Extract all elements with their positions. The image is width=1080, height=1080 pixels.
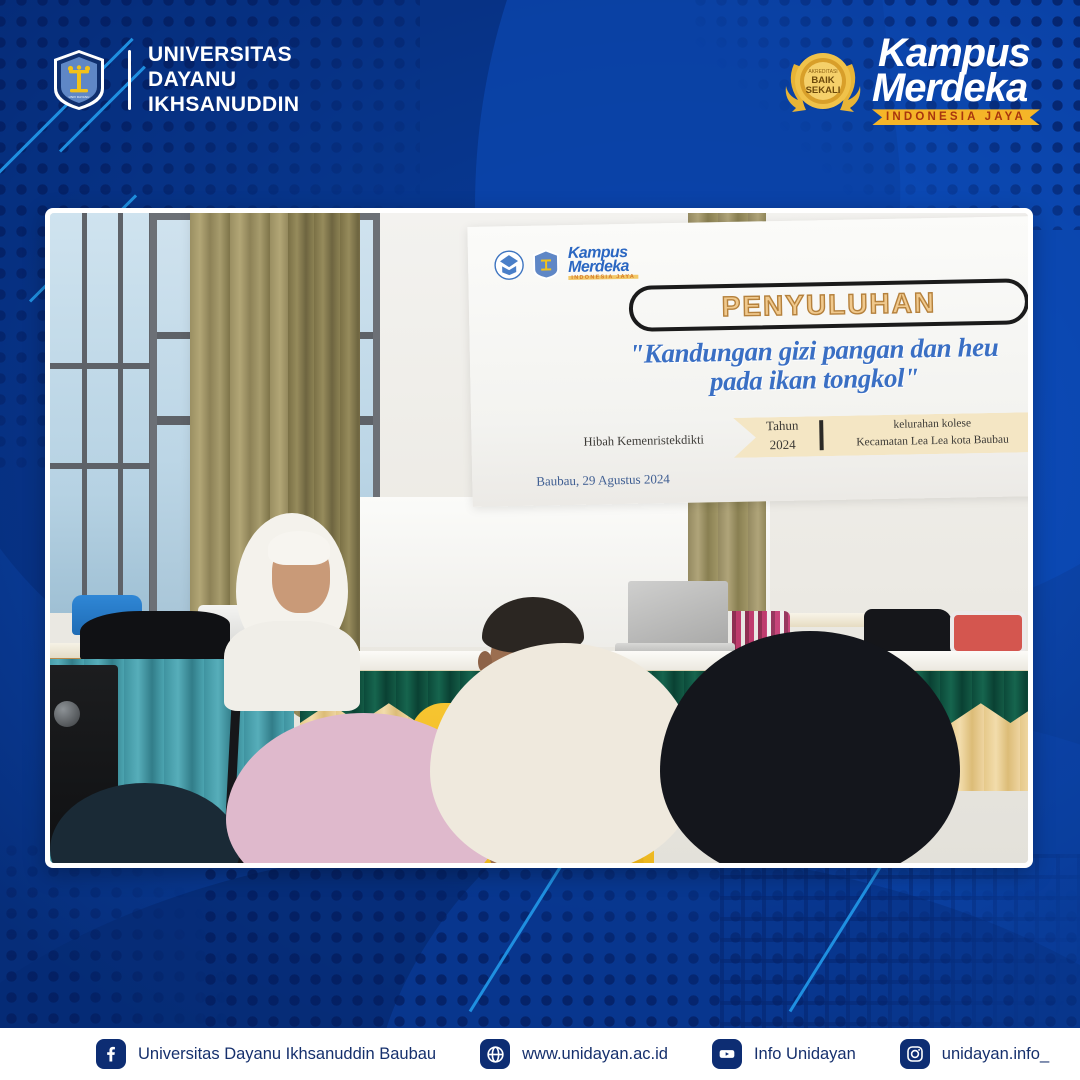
halftone-squares-bottom-right bbox=[720, 854, 1080, 1044]
footer-item-instagram[interactable]: unidayan.info_ bbox=[900, 1039, 1049, 1069]
hijab-shoulders bbox=[224, 621, 360, 711]
photo-card: Kampus Merdeka INDONESIA JAYA PENYULUHAN… bbox=[45, 208, 1033, 868]
university-name-line2: DAYANU bbox=[148, 67, 299, 92]
banner-kampus-merdeka-wordmark: Kampus Merdeka INDONESIA JAYA bbox=[568, 246, 638, 281]
window-grille-left bbox=[50, 213, 149, 613]
banner-year-label: Tahun bbox=[753, 416, 811, 436]
header-divider bbox=[128, 50, 131, 110]
svg-text:SEKALI: SEKALI bbox=[806, 85, 841, 96]
poster-header: UNIV DAYANU UNIVERSITAS DAYANU IKHSANUDD… bbox=[0, 0, 1080, 140]
kampus-merdeka-word2: Merdeka bbox=[872, 71, 1040, 106]
banner-year-value: 2024 bbox=[753, 435, 811, 455]
footer-item-youtube[interactable]: Info Unidayan bbox=[712, 1039, 856, 1069]
window-left-pane bbox=[50, 213, 155, 613]
globe-icon[interactable] bbox=[480, 1039, 510, 1069]
speaker-knob bbox=[54, 701, 80, 727]
hijab-front-fold bbox=[268, 531, 330, 565]
footer-label-facebook: Universitas Dayanu Ikhsanuddin Baubau bbox=[138, 1045, 436, 1064]
banner-headline-pill: PENYULUHAN bbox=[629, 278, 1028, 332]
svg-text:UNIV DAYANU: UNIV DAYANU bbox=[69, 95, 90, 99]
banner-university-seal-icon bbox=[531, 248, 562, 281]
banner-km-ribbon: INDONESIA JAYA bbox=[568, 274, 638, 280]
black-case-on-projector-table bbox=[80, 611, 230, 663]
kampus-merdeka-ribbon: INDONESIA JAYA bbox=[872, 109, 1040, 125]
banner-ribbon-separator bbox=[819, 420, 824, 450]
youtube-icon[interactable] bbox=[712, 1039, 742, 1069]
footer-item-facebook[interactable]: Universitas Dayanu Ikhsanuddin Baubau bbox=[96, 1039, 436, 1069]
university-name-line3: IKHSANUDDIN bbox=[148, 92, 299, 117]
banner-headline: PENYULUHAN bbox=[633, 282, 1026, 328]
instagram-icon[interactable] bbox=[900, 1039, 930, 1069]
laptop-screen bbox=[628, 581, 728, 645]
university-lockup: UNIV DAYANU UNIVERSITAS DAYANU IKHSANUDD… bbox=[50, 42, 299, 118]
banner-year: Tahun 2024 bbox=[753, 416, 812, 455]
banner-km-word2: Merdeka bbox=[568, 259, 638, 274]
kampus-merdeka-lockup: AKREDITASI BAIK SEKALI Kampus Merdeka IN… bbox=[782, 36, 1040, 125]
kampus-merdeka-wordmark: Kampus Merdeka INDONESIA JAYA bbox=[872, 36, 1040, 125]
facebook-icon[interactable] bbox=[96, 1039, 126, 1069]
banner-location: kelurahan kolese Kecamatan Lea Lea kota … bbox=[827, 414, 1028, 451]
footer-label-website: www.unidayan.ac.id bbox=[522, 1045, 668, 1064]
kemdikbud-logo-icon bbox=[494, 249, 525, 282]
banner-logos: Kampus Merdeka INDONESIA JAYA bbox=[494, 246, 638, 282]
footer-label-youtube: Info Unidayan bbox=[754, 1045, 856, 1064]
red-chair-right bbox=[950, 611, 1026, 655]
footer-label-instagram: unidayan.info_ bbox=[942, 1045, 1049, 1064]
university-name-line1: UNIVERSITAS bbox=[148, 42, 299, 67]
poster-footer: Universitas Dayanu Ikhsanuddin Baubau ww… bbox=[0, 1028, 1080, 1080]
footer-item-website[interactable]: www.unidayan.ac.id bbox=[480, 1039, 668, 1069]
seated-attendee-white-hijab bbox=[220, 513, 370, 703]
accreditation-medal-icon: AKREDITASI BAIK SEKALI bbox=[782, 42, 864, 120]
university-seal-icon: UNIV DAYANU bbox=[50, 49, 108, 111]
event-photo: Kampus Merdeka INDONESIA JAYA PENYULUHAN… bbox=[50, 213, 1028, 863]
poster-canvas: UNIV DAYANU UNIVERSITAS DAYANU IKHSANUDD… bbox=[0, 0, 1080, 1080]
university-name: UNIVERSITAS DAYANU IKHSANUDDIN bbox=[148, 42, 299, 118]
